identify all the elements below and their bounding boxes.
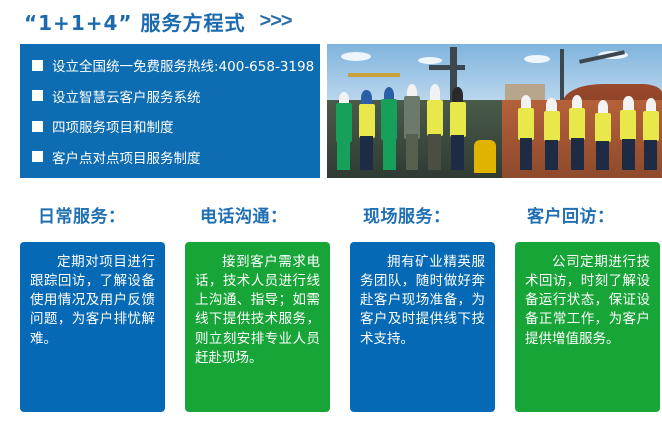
safety-vest bbox=[595, 113, 611, 142]
worker-figure bbox=[450, 87, 466, 170]
worker-figure bbox=[544, 98, 560, 170]
worker-figure bbox=[427, 84, 443, 170]
worker-figure bbox=[595, 100, 611, 170]
list-item-label: 设立智慧云客户服务系统 bbox=[52, 86, 201, 106]
rig-structure bbox=[348, 73, 400, 77]
service-card-body: 公司定期进行技术回访，时刻了解设备运行状态，保证设备正常工作，为客户提供增值服务… bbox=[525, 253, 650, 349]
rig-structure bbox=[429, 65, 465, 70]
square-bullet-icon bbox=[32, 121, 43, 132]
worker-figure bbox=[336, 92, 352, 170]
worker-legs bbox=[622, 139, 635, 170]
worker-figure bbox=[620, 96, 636, 170]
page-title: “1+1+4” 服务方程式 >>> bbox=[24, 6, 292, 36]
service-heading-followup: 客户回访： bbox=[527, 202, 615, 227]
safety-vest bbox=[359, 104, 375, 138]
highlight-panel: 设立全国统一免费服务热线:400-658-3198 设立智慧云客户服务系统 四项… bbox=[20, 44, 320, 178]
service-card-daily: 定期对项目进行跟踪回访，了解设备使用情况及用户反馈问题，为客户排忧解难。 bbox=[20, 242, 165, 412]
worker-legs bbox=[428, 134, 441, 170]
service-card-phone: 接到客户需求电话，技术人员进行线上沟通、指导；如需线下提供技术服务，则立刻安排专… bbox=[185, 242, 330, 412]
chevron-right-triple-icon: >>> bbox=[260, 10, 292, 33]
mining-team-photo-left bbox=[327, 44, 502, 178]
safety-vest bbox=[450, 102, 466, 137]
worker-legs bbox=[571, 138, 584, 170]
worker-legs bbox=[451, 135, 464, 170]
cloud-shape bbox=[341, 52, 371, 61]
service-card-onsite: 拥有矿业精英服务团队，随时做好奔赴客户现场准备，为客户及时提供线下技术支持。 bbox=[350, 242, 495, 412]
service-card-body: 接到客户需求电话，技术人员进行线上沟通、指导；如需线下提供技术服务，则立刻安排专… bbox=[195, 253, 320, 368]
worker-torso bbox=[381, 99, 397, 141]
pole-structure bbox=[560, 49, 564, 103]
worker-figure bbox=[404, 84, 420, 170]
worker-figure bbox=[381, 87, 397, 170]
highlight-bullet-list: 设立全国统一免费服务热线:400-658-3198 设立智慧云客户服务系统 四项… bbox=[20, 44, 320, 178]
list-item: 四项服务项目和制度 bbox=[20, 113, 320, 139]
service-heading-phone: 电话沟通： bbox=[200, 202, 288, 227]
worker-legs bbox=[360, 136, 373, 170]
service-card-followup: 公司定期进行技术回访，时刻了解设备运行状态，保证设备正常工作，为客户提供增值服务… bbox=[515, 242, 660, 412]
list-item-label: 客户点对点项目服务制度 bbox=[52, 147, 201, 167]
list-item-label: 设立全国统一免费服务热线:400-658-3198 bbox=[52, 55, 314, 75]
service-equation-infographic: “1+1+4” 服务方程式 >>> 设立全国统一免费服务热线:400-658-3… bbox=[0, 0, 662, 421]
worker-legs bbox=[383, 135, 396, 170]
worker-figure bbox=[643, 98, 659, 170]
safety-vest bbox=[643, 111, 659, 141]
worker-legs bbox=[406, 134, 419, 170]
photo-strip bbox=[327, 44, 662, 178]
worker-legs bbox=[596, 141, 609, 170]
worker-figure bbox=[569, 95, 585, 170]
hardhat-icon bbox=[623, 96, 633, 111]
safety-vest bbox=[569, 108, 585, 140]
safety-vest bbox=[544, 111, 560, 141]
hardhat-icon bbox=[430, 84, 440, 101]
worker-torso bbox=[336, 103, 352, 142]
hardhat-icon bbox=[646, 98, 656, 112]
service-heading-daily: 日常服务： bbox=[38, 202, 126, 227]
service-heading-onsite: 现场服务： bbox=[363, 202, 451, 227]
list-item: 客户点对点项目服务制度 bbox=[20, 144, 320, 170]
excavator-bucket bbox=[474, 140, 496, 172]
page-title-text: “1+1+4” 服务方程式 bbox=[24, 7, 246, 36]
list-item: 设立全国统一免费服务热线:400-658-3198 bbox=[20, 52, 320, 78]
square-bullet-icon bbox=[32, 90, 43, 101]
worker-torso bbox=[404, 96, 420, 139]
mining-team-photo-right bbox=[502, 44, 662, 178]
safety-vest bbox=[427, 100, 443, 136]
hardhat-icon bbox=[546, 98, 556, 112]
safety-vest bbox=[518, 108, 534, 140]
worker-legs bbox=[520, 138, 533, 170]
list-item: 设立智慧云客户服务系统 bbox=[20, 83, 320, 109]
list-item-label: 四项服务项目和制度 bbox=[52, 116, 174, 136]
worker-legs bbox=[545, 140, 558, 170]
service-card-body: 定期对项目进行跟踪回访，了解设备使用情况及用户反馈问题，为客户排忧解难。 bbox=[30, 253, 155, 349]
worker-legs bbox=[644, 140, 657, 170]
worker-legs bbox=[337, 137, 350, 170]
cloud-shape bbox=[524, 55, 550, 63]
square-bullet-icon bbox=[32, 151, 43, 162]
worker-figure bbox=[518, 95, 534, 170]
worker-figure bbox=[359, 90, 375, 170]
safety-vest bbox=[620, 110, 636, 141]
service-card-body: 拥有矿业精英服务团队，随时做好奔赴客户现场准备，为客户及时提供线下技术支持。 bbox=[360, 253, 485, 349]
square-bullet-icon bbox=[32, 60, 43, 71]
